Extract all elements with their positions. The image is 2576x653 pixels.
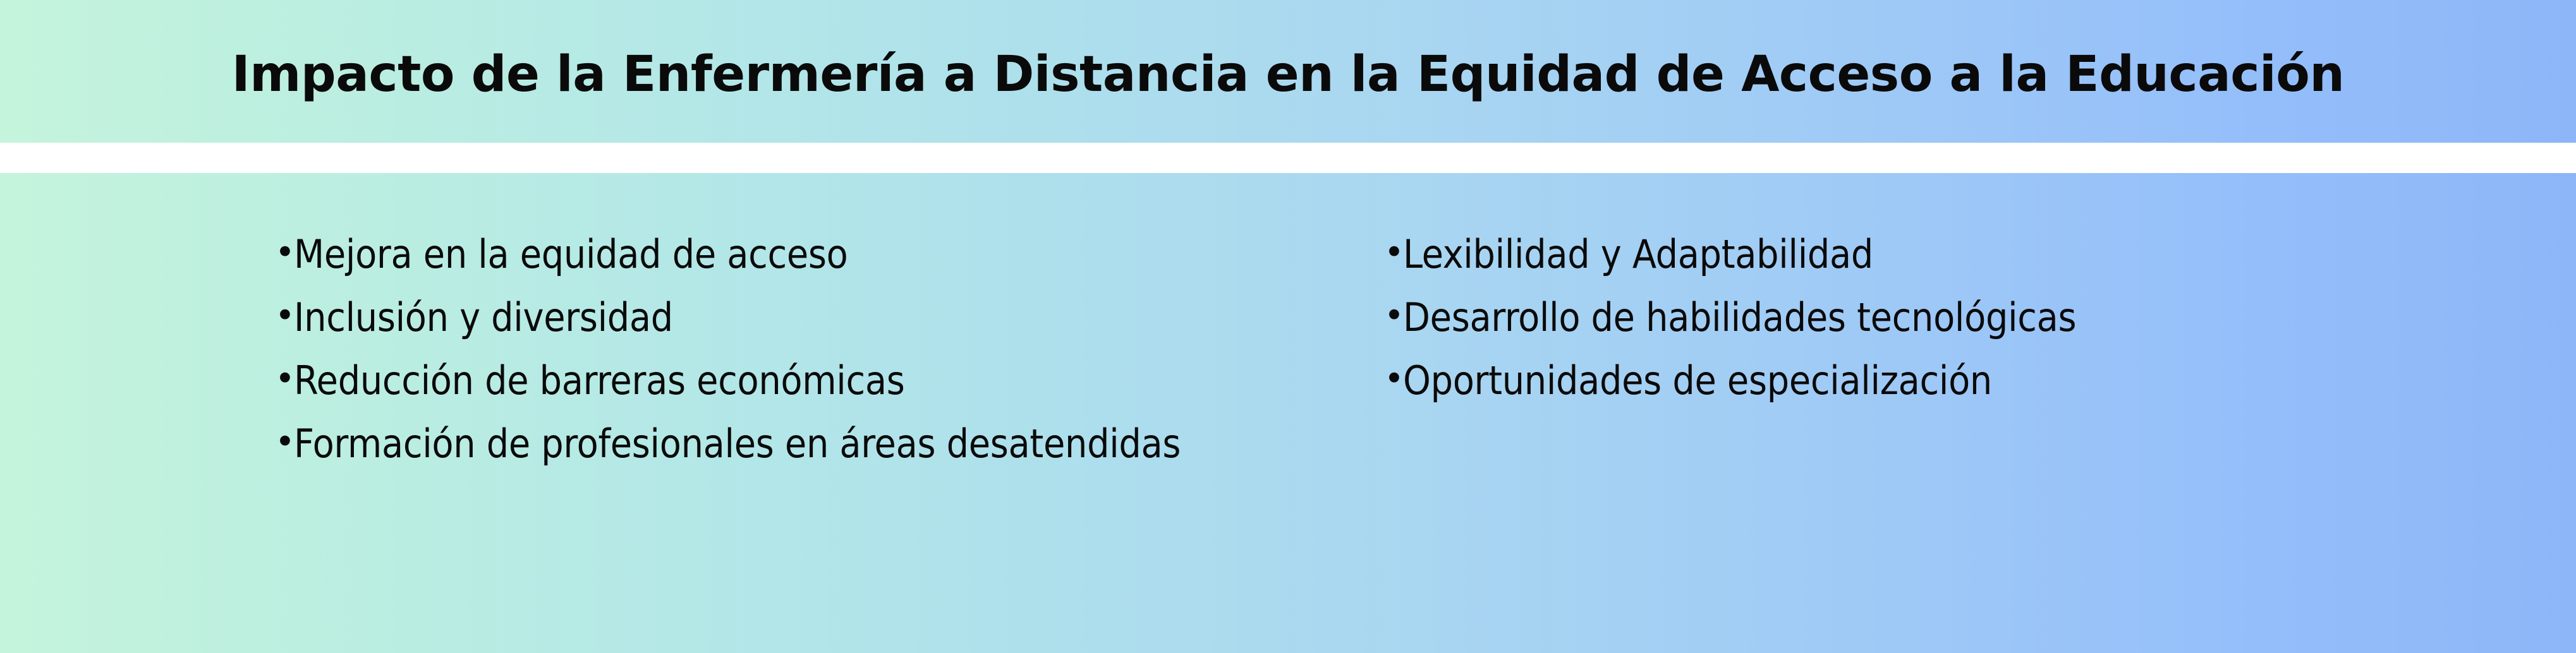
list-item: • Lexibilidad y Adaptabilidad: [1384, 231, 2576, 277]
header-body-separator: [0, 143, 2576, 173]
bullet-dot-icon: •: [1384, 357, 1403, 399]
list-item: • Mejora en la equidad de acceso: [275, 231, 1359, 277]
list-item: • Oportunidades de especialización: [1384, 357, 2576, 404]
bullet-dot-icon: •: [275, 294, 294, 336]
list-item-label: Lexibilidad y Adaptabilidad: [1403, 231, 1873, 277]
body-band: • Mejora en la equidad de acceso • Inclu…: [0, 173, 2576, 653]
list-item-label: Reducción de barreras económicas: [294, 357, 904, 404]
list-item-label: Mejora en la equidad de acceso: [294, 231, 848, 277]
content-columns: • Mejora en la equidad de acceso • Inclu…: [0, 173, 2576, 653]
list-item: • Reducción de barreras económicas: [275, 357, 1359, 404]
right-bullet-list: • Lexibilidad y Adaptabilidad • Desarrol…: [1384, 231, 2576, 404]
list-item: • Formación de profesionales en áreas de…: [275, 421, 1359, 467]
bullet-dot-icon: •: [275, 357, 294, 399]
bullet-dot-icon: •: [275, 421, 294, 462]
slide-root: Impacto de la Enfermería a Distancia en …: [0, 0, 2576, 653]
left-bullet-list: • Mejora en la equidad de acceso • Inclu…: [275, 231, 1359, 467]
list-item-label: Formación de profesionales en áreas desa…: [294, 421, 1181, 467]
list-item-label: Oportunidades de especialización: [1403, 357, 1992, 404]
list-item: • Desarrollo de habilidades tecnológicas: [1384, 294, 2576, 340]
bullet-dot-icon: •: [1384, 231, 1403, 273]
left-column: • Mejora en la equidad de acceso • Inclu…: [0, 173, 1359, 484]
list-item: • Inclusión y diversidad: [275, 294, 1359, 340]
header-band: Impacto de la Enfermería a Distancia en …: [0, 0, 2576, 143]
list-item-label: Desarrollo de habilidades tecnológicas: [1403, 294, 2076, 340]
page-title: Impacto de la Enfermería a Distancia en …: [232, 44, 2345, 99]
bullet-dot-icon: •: [1384, 294, 1403, 336]
list-item-label: Inclusión y diversidad: [294, 294, 673, 340]
right-column: • Lexibilidad y Adaptabilidad • Desarrol…: [1359, 173, 2576, 421]
bullet-dot-icon: •: [275, 231, 294, 273]
